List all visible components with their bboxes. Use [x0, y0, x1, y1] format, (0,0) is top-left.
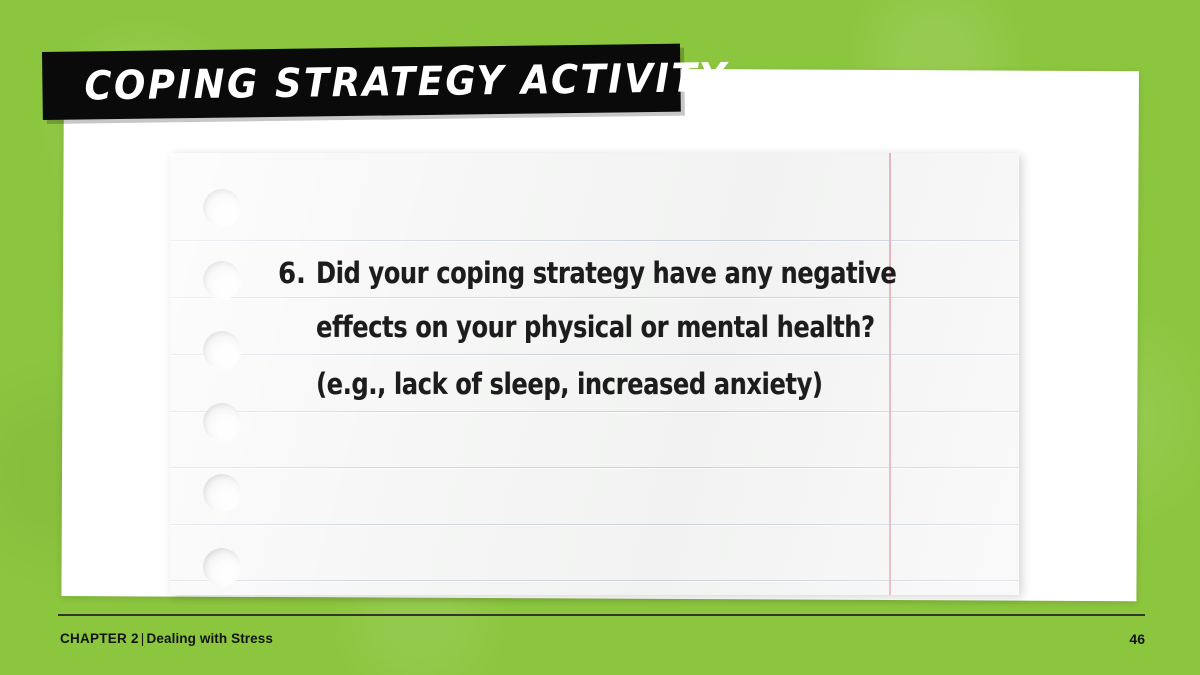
footer-chapter-title: Dealing with Stress: [147, 631, 273, 646]
punch-hole: [203, 261, 241, 299]
question-line-2: effects on your physical or mental healt…: [278, 313, 878, 370]
footer-chapter: CHAPTER 2|Dealing with Stress: [60, 631, 273, 646]
rule-line: [170, 467, 1019, 468]
punch-hole: [203, 548, 241, 586]
rule-line: [170, 524, 1019, 525]
question-line-3: (e.g., lack of sleep, increased anxiety): [278, 370, 878, 427]
footer-chapter-label: CHAPTER 2: [60, 631, 139, 646]
page-number: 46: [1129, 631, 1145, 647]
question-text-line-2: effects on your physical or mental healt…: [316, 313, 875, 342]
footer-divider: [58, 614, 1145, 616]
question-text-line-1: Did your coping strategy have any negati…: [316, 259, 896, 288]
punch-hole: [203, 403, 241, 441]
punch-hole: [203, 331, 241, 369]
footer-separator: |: [139, 631, 147, 646]
page-title: COPING STRATEGY ACTIVITY: [42, 54, 728, 109]
margin-line: [889, 153, 891, 595]
rule-line: [170, 580, 1019, 581]
punch-hole: [203, 474, 241, 512]
title-banner: COPING STRATEGY ACTIVITY: [42, 44, 681, 120]
slide-canvas: 6. Did your coping strategy have any neg…: [0, 0, 1200, 675]
question-text-line-3: (e.g., lack of sleep, increased anxiety): [316, 370, 823, 399]
question-block: 6. Did your coping strategy have any neg…: [278, 256, 878, 427]
question-line-1: 6. Did your coping strategy have any neg…: [278, 256, 878, 313]
question-number: 6.: [278, 256, 316, 290]
rule-line: [170, 240, 1019, 241]
punch-hole: [203, 189, 241, 227]
